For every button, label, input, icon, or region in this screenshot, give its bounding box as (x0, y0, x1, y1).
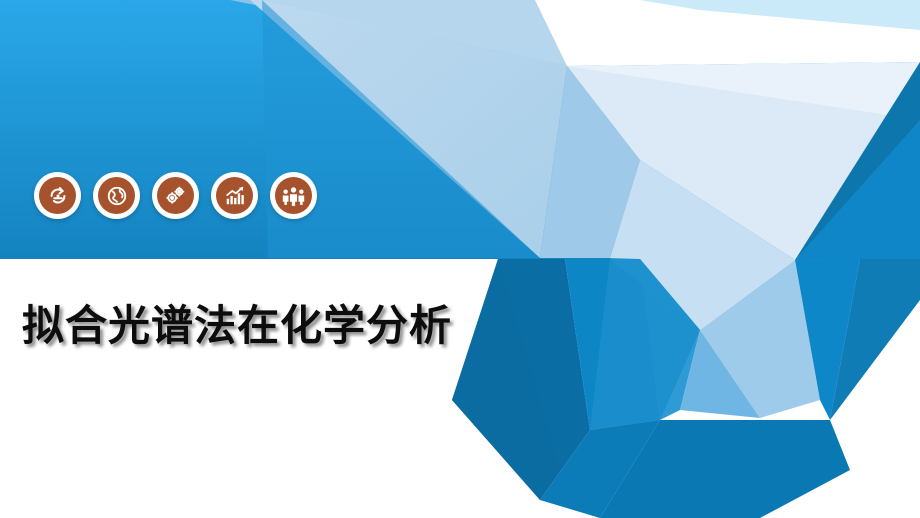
gears-icon (157, 177, 194, 214)
decorative-polygon-background (0, 0, 920, 518)
recycle-arrow-icon (39, 177, 76, 214)
icon-badge-gears[interactable] (152, 172, 199, 219)
icon-badge-recycle-arrow[interactable] (34, 172, 81, 219)
team-people-icon (275, 177, 312, 214)
icon-badge-globe[interactable] (93, 172, 140, 219)
icon-badge-bar-chart-growth[interactable] (211, 172, 258, 219)
bar-chart-growth-icon (216, 177, 253, 214)
icon-badge-team-people[interactable] (270, 172, 317, 219)
feature-icon-row (34, 172, 317, 219)
header-tagline: 数智创新 变革未来 (676, 26, 900, 62)
page-title: 拟合光谱法在化学分析 (22, 292, 452, 353)
presentation-title-slide: 数智创新 变革未来 (0, 0, 920, 518)
globe-icon (98, 177, 135, 214)
